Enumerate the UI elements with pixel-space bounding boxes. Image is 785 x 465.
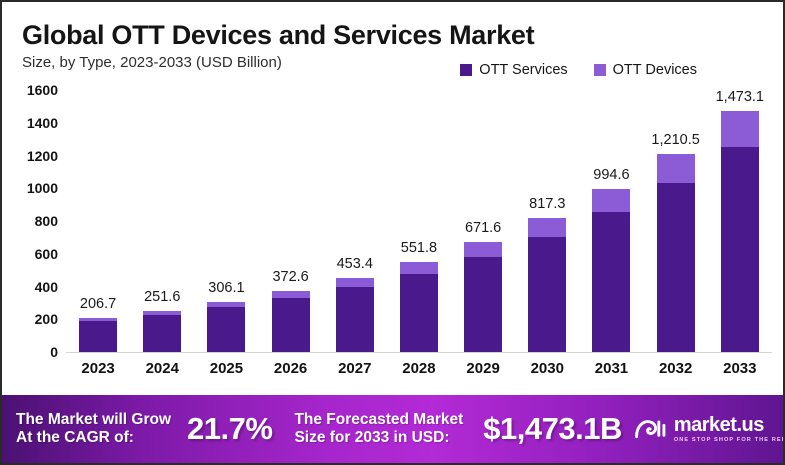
bar-group[interactable]: 1,210.5 <box>644 90 708 352</box>
bar-segment-ott-services[interactable] <box>272 298 310 352</box>
bar-segment-ott-devices[interactable] <box>464 242 502 257</box>
y-axis-tick: 1600 <box>2 82 58 98</box>
legend-item-ott-services[interactable]: OTT Services <box>460 62 567 78</box>
bar-value-label: 453.4 <box>337 256 373 272</box>
legend-label: OTT Services <box>479 62 567 78</box>
footer-size-caption: The Forecasted Market Size for 2033 in U… <box>294 411 463 447</box>
legend-label: OTT Devices <box>613 62 697 78</box>
chart-card: Global OTT Devices and Services Market S… <box>0 0 785 465</box>
legend-item-ott-devices[interactable]: OTT Devices <box>594 62 697 78</box>
bar-group[interactable]: 306.1 <box>194 90 258 352</box>
footer-size-caption-line2: Size for 2033 in USD: <box>294 429 449 446</box>
bar-group[interactable]: 372.6 <box>259 90 323 352</box>
bar-group[interactable]: 251.6 <box>130 90 194 352</box>
y-axis-tick: 1400 <box>2 115 58 131</box>
footer-banner: The Market will Grow At the CAGR of: 21.… <box>2 395 785 463</box>
bar-segment-ott-devices[interactable] <box>657 154 695 183</box>
bar-value-label: 206.7 <box>80 296 116 312</box>
x-axis-tick: 2029 <box>451 360 515 377</box>
bar-group[interactable]: 551.8 <box>387 90 451 352</box>
y-axis-tick: 200 <box>2 311 58 327</box>
bar-segment-ott-services[interactable] <box>657 183 695 352</box>
y-axis-tick: 0 <box>2 344 58 360</box>
footer-cagr-value: 21.7% <box>187 411 272 447</box>
bar-group[interactable]: 671.6 <box>451 90 515 352</box>
x-axis-tick: 2026 <box>259 360 323 377</box>
x-axis-tick: 2025 <box>194 360 258 377</box>
bar-stack[interactable] <box>721 111 759 352</box>
bar-segment-ott-services[interactable] <box>336 287 374 352</box>
bar-value-label: 306.1 <box>208 280 244 296</box>
footer-size-value: $1,473.1B <box>483 411 622 447</box>
chart-legend: OTT Services OTT Devices <box>460 62 697 78</box>
square-swatch-icon <box>594 64 606 76</box>
x-axis-labels: 2023202420252026202720282029203020312032… <box>66 360 772 377</box>
bar-stack[interactable] <box>272 291 310 352</box>
bar-series-container: 206.7251.6306.1372.6453.4551.8671.6817.3… <box>66 90 772 352</box>
chart-header: Global OTT Devices and Services Market S… <box>2 2 785 94</box>
bar-segment-ott-devices[interactable] <box>721 111 759 147</box>
bar-group[interactable]: 1,473.1 <box>708 90 772 352</box>
page-title: Global OTT Devices and Services Market <box>22 20 534 51</box>
bar-value-label: 671.6 <box>465 220 501 236</box>
x-axis-tick: 2024 <box>130 360 194 377</box>
bar-stack[interactable] <box>464 242 502 352</box>
y-axis-tick: 1000 <box>2 180 58 196</box>
bar-group[interactable]: 994.6 <box>579 90 643 352</box>
bar-segment-ott-devices[interactable] <box>400 262 438 274</box>
x-axis-tick: 2023 <box>66 360 130 377</box>
bar-segment-ott-services[interactable] <box>400 274 438 352</box>
x-axis-tick: 2028 <box>387 360 451 377</box>
bar-group[interactable]: 453.4 <box>323 90 387 352</box>
x-axis-tick: 2032 <box>644 360 708 377</box>
bar-value-label: 817.3 <box>529 196 565 212</box>
bar-stack[interactable] <box>592 189 630 352</box>
bar-stack[interactable] <box>400 262 438 352</box>
bar-value-label: 994.6 <box>593 167 629 183</box>
bar-segment-ott-devices[interactable] <box>528 218 566 237</box>
bar-segment-ott-services[interactable] <box>528 237 566 352</box>
bar-segment-ott-devices[interactable] <box>336 278 374 287</box>
bar-stack[interactable] <box>79 318 117 352</box>
y-axis-tick: 400 <box>2 279 58 295</box>
footer-cagr-caption-line2: At the CAGR of: <box>16 429 134 446</box>
x-axis-baseline <box>66 352 772 353</box>
bar-stack[interactable] <box>207 302 245 352</box>
plot-area: 02004006008001000120014001600 206.7251.6… <box>2 90 785 395</box>
chart-subtitle: Size, by Type, 2023-2033 (USD Billion) <box>22 54 282 71</box>
market-us-logo-icon <box>634 416 668 442</box>
bar-group[interactable]: 817.3 <box>515 90 579 352</box>
bar-segment-ott-services[interactable] <box>721 147 759 352</box>
bar-value-label: 551.8 <box>401 240 437 256</box>
brand-tagline: ONE STOP SHOP FOR THE REPORTS <box>674 438 785 444</box>
y-axis-tick: 600 <box>2 246 58 262</box>
bar-value-label: 1,210.5 <box>651 132 699 148</box>
footer-cagr-caption: The Market will Grow At the CAGR of: <box>16 411 171 447</box>
x-axis-tick: 2027 <box>323 360 387 377</box>
bar-stack[interactable] <box>657 154 695 352</box>
bar-value-label: 372.6 <box>272 269 308 285</box>
bar-stack[interactable] <box>528 218 566 352</box>
bar-segment-ott-services[interactable] <box>79 321 117 352</box>
y-axis-tick: 1200 <box>2 148 58 164</box>
bar-stack[interactable] <box>143 311 181 352</box>
bar-segment-ott-services[interactable] <box>592 212 630 352</box>
bar-segment-ott-services[interactable] <box>464 257 502 352</box>
x-axis-tick: 2033 <box>708 360 772 377</box>
x-axis-tick: 2031 <box>579 360 643 377</box>
bar-segment-ott-devices[interactable] <box>592 189 630 212</box>
bar-segment-ott-services[interactable] <box>143 315 181 352</box>
bar-value-label: 1,473.1 <box>716 89 764 105</box>
brand-name: market.us <box>674 415 785 435</box>
bar-group[interactable]: 206.7 <box>66 90 130 352</box>
bar-value-label: 251.6 <box>144 289 180 305</box>
footer-cagr-caption-line1: The Market will Grow <box>16 411 171 428</box>
x-axis-tick: 2030 <box>515 360 579 377</box>
bar-segment-ott-devices[interactable] <box>272 291 310 298</box>
bar-segment-ott-services[interactable] <box>207 307 245 352</box>
brand-text: market.us ONE STOP SHOP FOR THE REPORTS <box>674 415 785 444</box>
bar-stack[interactable] <box>336 278 374 352</box>
brand-logo[interactable]: market.us ONE STOP SHOP FOR THE REPORTS <box>634 415 785 444</box>
footer-size-caption-line1: The Forecasted Market <box>294 411 463 428</box>
square-swatch-icon <box>460 64 472 76</box>
y-axis-tick: 800 <box>2 213 58 229</box>
